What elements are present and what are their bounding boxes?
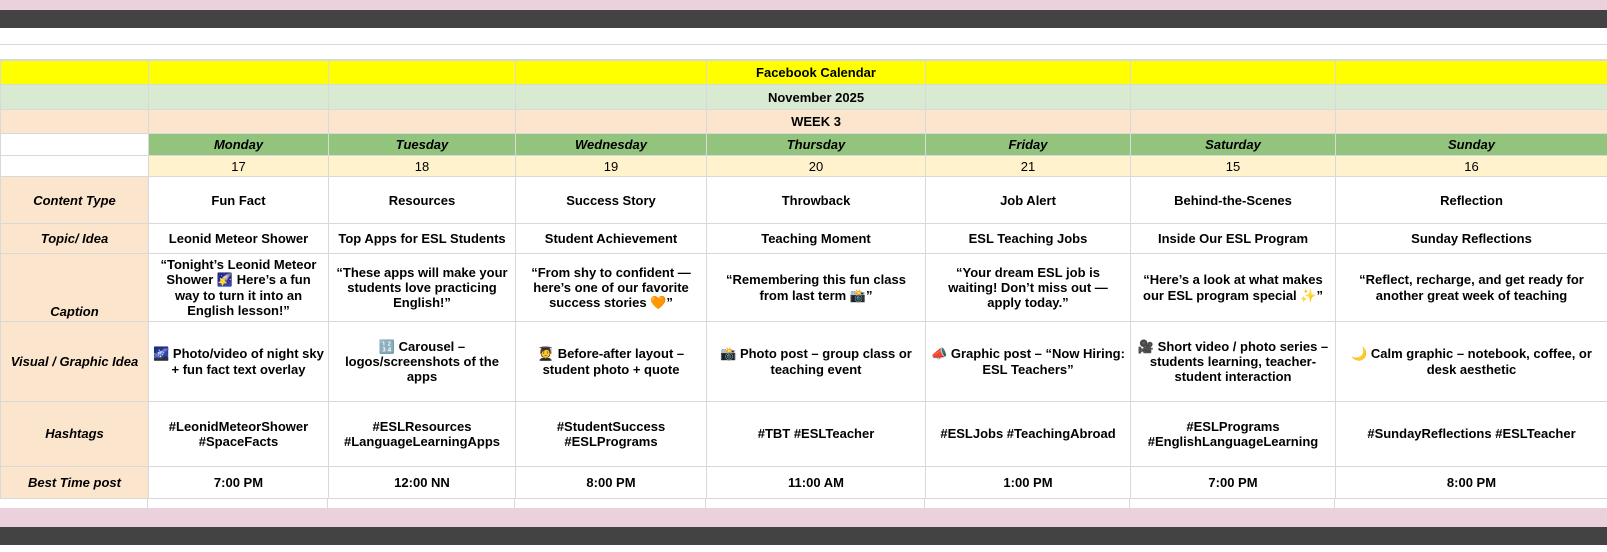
- row-label-topic-idea: Topic/ Idea: [1, 224, 149, 254]
- cell-caption-thursday[interactable]: “Remembering this fun class from last te…: [707, 254, 926, 322]
- cell-topic-wednesday[interactable]: Student Achievement: [516, 224, 707, 254]
- week-cell-spacer: [1336, 110, 1607, 134]
- banner-title-facebook-calendar: Facebook Calendar: [707, 61, 926, 85]
- banner-cell-spacer: [329, 61, 516, 85]
- cell-best-time-monday[interactable]: 7:00 PM: [149, 467, 329, 499]
- row-label-hashtags: Hashtags: [1, 402, 149, 467]
- row-label-visual-graphic-idea: Visual / Graphic Idea: [1, 322, 149, 402]
- cell-visual-sunday[interactable]: 🌙 Calm graphic – notebook, coffee, or de…: [1336, 322, 1607, 402]
- day-number-wednesday: 19: [516, 156, 707, 177]
- row-hashtags: Hashtags #LeonidMeteorShower #SpaceFacts…: [1, 402, 1607, 467]
- cell-visual-wednesday[interactable]: 🧑‍🎓 Before-after layout – student photo …: [516, 322, 707, 402]
- day-header-sunday: Sunday: [1336, 134, 1607, 156]
- cell-visual-monday[interactable]: 🌌 Photo/video of night sky + fun fact te…: [149, 322, 329, 402]
- row-topic-idea: Topic/ Idea Leonid Meteor Shower Top App…: [1, 224, 1607, 254]
- day-number-row: 17 18 19 20 21 15 16: [1, 156, 1607, 177]
- week-cell-spacer: [149, 110, 329, 134]
- spreadsheet-canvas: Facebook Calendar November 2025: [0, 0, 1607, 552]
- cell-best-time-sunday[interactable]: 8:00 PM: [1336, 467, 1607, 499]
- row-best-time-post: Best Time post 7:00 PM 12:00 NN 8:00 PM …: [1, 467, 1607, 499]
- cell-content-type-friday[interactable]: Job Alert: [926, 177, 1131, 224]
- month-cell-spacer: [1336, 85, 1607, 110]
- month-title: November 2025: [707, 85, 926, 110]
- top-pink-strip: [0, 0, 1607, 10]
- cell-hashtags-thursday[interactable]: #TBT #ESLTeacher: [707, 402, 926, 467]
- cell-content-type-sunday[interactable]: Reflection: [1336, 177, 1607, 224]
- top-dark-bar: [0, 10, 1607, 28]
- cell-best-time-saturday[interactable]: 7:00 PM: [1131, 467, 1336, 499]
- day-number-thursday: 20: [707, 156, 926, 177]
- week-cell-spacer: [1, 110, 149, 134]
- cell-caption-wednesday[interactable]: “From shy to confident — here’s one of o…: [516, 254, 707, 322]
- cell-best-time-friday[interactable]: 1:00 PM: [926, 467, 1131, 499]
- content-calendar-table: Facebook Calendar November 2025: [0, 60, 1607, 499]
- cell-caption-friday[interactable]: “Your dream ESL job is waiting! Don’t mi…: [926, 254, 1131, 322]
- bottom-pink-strip: [0, 508, 1607, 527]
- cell-topic-monday[interactable]: Leonid Meteor Shower: [149, 224, 329, 254]
- cell-hashtags-tuesday[interactable]: #ESLResources #LanguageLearningApps: [329, 402, 516, 467]
- cell-best-time-tuesday[interactable]: 12:00 NN: [329, 467, 516, 499]
- row-caption: Caption “Tonight’s Leonid Meteor Shower …: [1, 254, 1607, 322]
- day-name-header-row: Monday Tuesday Wednesday Thursday Friday…: [1, 134, 1607, 156]
- cell-hashtags-wednesday[interactable]: #StudentSuccess #ESLPrograms: [516, 402, 707, 467]
- day-header-corner: [1, 134, 149, 156]
- day-number-tuesday: 18: [329, 156, 516, 177]
- day-header-friday: Friday: [926, 134, 1131, 156]
- day-header-thursday: Thursday: [707, 134, 926, 156]
- cell-best-time-thursday[interactable]: 11:00 AM: [707, 467, 926, 499]
- month-cell-spacer: [1, 85, 149, 110]
- row-label-best-time-post: Best Time post: [1, 467, 149, 499]
- week-cell-spacer: [926, 110, 1131, 134]
- day-number-friday: 21: [926, 156, 1131, 177]
- cell-caption-monday[interactable]: “Tonight’s Leonid Meteor Shower 🌠 Here’s…: [149, 254, 329, 322]
- bottom-dark-bar: [0, 527, 1607, 545]
- week-cell-spacer: [516, 110, 707, 134]
- cell-hashtags-friday[interactable]: #ESLJobs #TeachingAbroad: [926, 402, 1131, 467]
- month-cell-spacer: [516, 85, 707, 110]
- cell-content-type-tuesday[interactable]: Resources: [329, 177, 516, 224]
- cell-topic-sunday[interactable]: Sunday Reflections: [1336, 224, 1607, 254]
- day-number-corner: [1, 156, 149, 177]
- cell-best-time-wednesday[interactable]: 8:00 PM: [516, 467, 707, 499]
- day-header-monday: Monday: [149, 134, 329, 156]
- cell-caption-saturday[interactable]: “Here’s a look at what makes our ESL pro…: [1131, 254, 1336, 322]
- day-number-monday: 17: [149, 156, 329, 177]
- cell-hashtags-monday[interactable]: #LeonidMeteorShower #SpaceFacts: [149, 402, 329, 467]
- row-label-caption: Caption: [1, 254, 149, 322]
- day-header-saturday: Saturday: [1131, 134, 1336, 156]
- day-number-saturday: 15: [1131, 156, 1336, 177]
- row-label-content-type: Content Type: [1, 177, 149, 224]
- banner-cell-spacer: [1131, 61, 1336, 85]
- row-visual-graphic-idea: Visual / Graphic Idea 🌌 Photo/video of n…: [1, 322, 1607, 402]
- week-title: WEEK 3: [707, 110, 926, 134]
- banner-cell-spacer: [516, 61, 707, 85]
- banner-row-facebook-calendar: Facebook Calendar: [1, 61, 1607, 85]
- month-cell-spacer: [149, 85, 329, 110]
- cell-hashtags-sunday[interactable]: #SundayReflections #ESLTeacher: [1336, 402, 1607, 467]
- bottom-blank-row: [0, 545, 1607, 552]
- month-cell-spacer: [329, 85, 516, 110]
- week-title-row: WEEK 3: [1, 110, 1607, 134]
- cell-topic-tuesday[interactable]: Top Apps for ESL Students: [329, 224, 516, 254]
- row-content-type: Content Type Fun Fact Resources Success …: [1, 177, 1607, 224]
- month-cell-spacer: [1131, 85, 1336, 110]
- month-title-row: November 2025: [1, 85, 1607, 110]
- day-number-sunday: 16: [1336, 156, 1607, 177]
- banner-cell-spacer: [926, 61, 1131, 85]
- cell-topic-saturday[interactable]: Inside Our ESL Program: [1131, 224, 1336, 254]
- blank-row-rule: [0, 44, 1607, 45]
- day-header-wednesday: Wednesday: [516, 134, 707, 156]
- cell-visual-saturday[interactable]: 🎥 Short video / photo series – students …: [1131, 322, 1336, 402]
- cell-content-type-saturday[interactable]: Behind-the-Scenes: [1131, 177, 1336, 224]
- month-cell-spacer: [926, 85, 1131, 110]
- banner-cell-spacer: [1336, 61, 1607, 85]
- cell-caption-tuesday[interactable]: “These apps will make your students love…: [329, 254, 516, 322]
- cell-topic-friday[interactable]: ESL Teaching Jobs: [926, 224, 1131, 254]
- cell-topic-thursday[interactable]: Teaching Moment: [707, 224, 926, 254]
- banner-cell-spacer: [1, 61, 149, 85]
- cell-visual-thursday[interactable]: 📸 Photo post – group class or teaching e…: [707, 322, 926, 402]
- banner-cell-spacer: [149, 61, 329, 85]
- cell-content-type-wednesday[interactable]: Success Story: [516, 177, 707, 224]
- cell-caption-sunday[interactable]: “Reflect, recharge, and get ready for an…: [1336, 254, 1607, 322]
- cell-hashtags-saturday[interactable]: #ESLPrograms #EnglishLanguageLearning: [1131, 402, 1336, 467]
- cell-visual-friday[interactable]: 📣 Graphic post – “Now Hiring: ESL Teache…: [926, 322, 1131, 402]
- week-cell-spacer: [329, 110, 516, 134]
- week-cell-spacer: [1131, 110, 1336, 134]
- day-header-tuesday: Tuesday: [329, 134, 516, 156]
- cell-content-type-thursday[interactable]: Throwback: [707, 177, 926, 224]
- cell-visual-tuesday[interactable]: 🔢 Carousel – logos/screenshots of the ap…: [329, 322, 516, 402]
- cell-content-type-monday[interactable]: Fun Fact: [149, 177, 329, 224]
